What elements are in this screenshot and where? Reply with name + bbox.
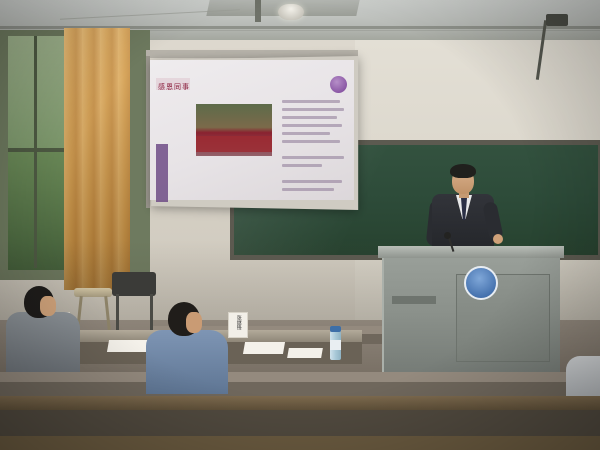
attendee-center-face — [186, 312, 202, 333]
slide-text-line — [282, 180, 342, 183]
attendee-left-face — [40, 296, 56, 316]
window-mullion-v — [34, 36, 37, 268]
bottle-cap — [330, 326, 341, 332]
university-emblem — [464, 266, 498, 300]
foreground-desk-surface — [0, 396, 600, 410]
slide-text-line — [282, 124, 342, 127]
attendee-left-body — [6, 312, 80, 372]
slide-photo-banner — [196, 136, 272, 152]
microphone-icon — [444, 232, 451, 239]
university-seal-logo — [330, 76, 347, 93]
slide-text-line — [282, 116, 337, 119]
slide-text-line — [282, 100, 340, 103]
slide-text-line — [282, 140, 340, 143]
av-trolley — [112, 272, 156, 296]
ceiling-lamp-icon — [278, 4, 304, 20]
document-stack — [287, 348, 323, 358]
classroom-photo: 感恩同事 陈 超 张继锋 — [0, 0, 600, 450]
bottle-label — [330, 340, 341, 350]
floor-step-face — [0, 382, 600, 396]
document-stack — [243, 342, 285, 354]
ceiling-camera-icon — [546, 14, 568, 26]
slide-text-line — [282, 156, 344, 159]
slide-text-line — [282, 108, 344, 111]
slide-text-line — [282, 188, 334, 191]
attendee-center-body — [146, 330, 228, 394]
name-card-center-text: 张继锋 — [235, 313, 241, 330]
window-mullion-h — [8, 148, 66, 152]
slide-title: 感恩同事 — [158, 82, 190, 92]
podium-vent-slot — [392, 296, 436, 304]
slide-side-banner — [156, 144, 168, 202]
presenter-hand — [493, 234, 503, 244]
track-light-rail — [255, 0, 261, 22]
name-card-center: 张继锋 — [228, 312, 248, 338]
slide-text-line — [282, 132, 330, 135]
slide-text-line — [282, 164, 322, 167]
floor-step — [0, 372, 600, 382]
podium-top-surface — [378, 246, 564, 258]
foreground-desk-edge — [0, 436, 600, 450]
presenter-hair — [450, 164, 476, 178]
